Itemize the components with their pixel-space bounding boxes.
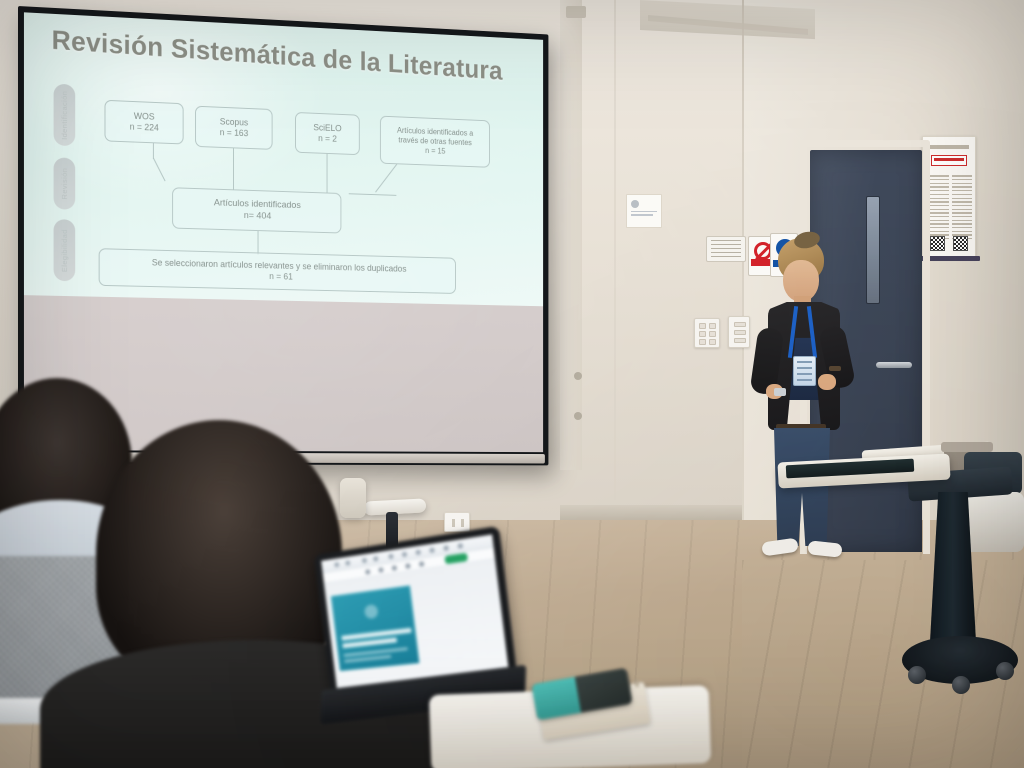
wall-joint [614, 0, 616, 500]
stage-pill-elegibilidad: Elegibilidad [54, 219, 76, 281]
id-badge [793, 356, 816, 386]
flow-box-scielo: SciELO n = 2 [295, 112, 360, 155]
information-sign [706, 236, 746, 262]
stage-pill-revision: Revisión [54, 157, 76, 209]
door-handle[interactable] [876, 362, 912, 368]
presenter-shoe-right [807, 540, 842, 557]
connector-scopus [233, 148, 234, 189]
flow-box-identificados: Artículos identificados n= 404 [172, 187, 341, 233]
wall-poster [922, 136, 976, 258]
flow-box-scopus: Scopus n = 163 [195, 106, 273, 150]
classroom-presentation-photo: Revisión Sistemática de la Literatura Id… [0, 0, 1024, 768]
presenter [744, 238, 860, 590]
pedestal-chair-front [900, 470, 1020, 700]
presenter-hand-right [818, 374, 836, 390]
connector-scielo [327, 154, 328, 193]
slide-logo-icon [364, 604, 379, 619]
laptop-slide-thumbnail[interactable] [331, 586, 419, 671]
connector-to-screened [258, 231, 259, 254]
qr-code-icon [930, 236, 945, 251]
bin-lid [941, 442, 993, 452]
chair-back-mid [340, 478, 366, 518]
notice-logo-icon [631, 200, 639, 208]
baseboard [560, 505, 742, 521]
laptop-screen[interactable] [321, 534, 509, 688]
connector-other-diag [375, 164, 397, 193]
phone-case [532, 677, 582, 720]
screen-hook [574, 412, 582, 420]
screen-hook [574, 372, 582, 380]
power-outlet[interactable] [444, 512, 470, 532]
door-window [866, 196, 880, 304]
wristwatch [829, 366, 841, 371]
wos-count: n = 224 [130, 122, 159, 134]
qr-code-icon [953, 236, 968, 251]
scopus-count: n = 163 [220, 127, 249, 139]
caster-wheel [908, 666, 926, 684]
presentation-clicker [774, 388, 786, 396]
light-switch-panel[interactable] [694, 318, 720, 348]
screen-mount [566, 6, 586, 18]
flow-box-seleccionados: Se seleccionaron artículos relevantes y … [99, 248, 456, 294]
caster-wheel [952, 676, 970, 694]
flow-box-wos: WOS n = 224 [105, 100, 184, 145]
caster-wheel [996, 662, 1014, 680]
chair-column [930, 492, 976, 642]
wall-notice [626, 194, 662, 228]
slide-content: Revisión Sistemática de la Literatura Id… [24, 12, 543, 305]
wall-column [560, 0, 582, 470]
flow-box-other-sources: Artículos identificados a través de otra… [380, 116, 490, 168]
connector-join [349, 193, 397, 196]
stage-pill-identificacion: Identificación [54, 84, 76, 147]
poster-red-header [931, 155, 967, 166]
presenter-shoe-left [761, 538, 799, 557]
scielo-count: n = 2 [313, 133, 341, 145]
screen-surface: Revisión Sistemática de la Literatura Id… [24, 12, 543, 452]
